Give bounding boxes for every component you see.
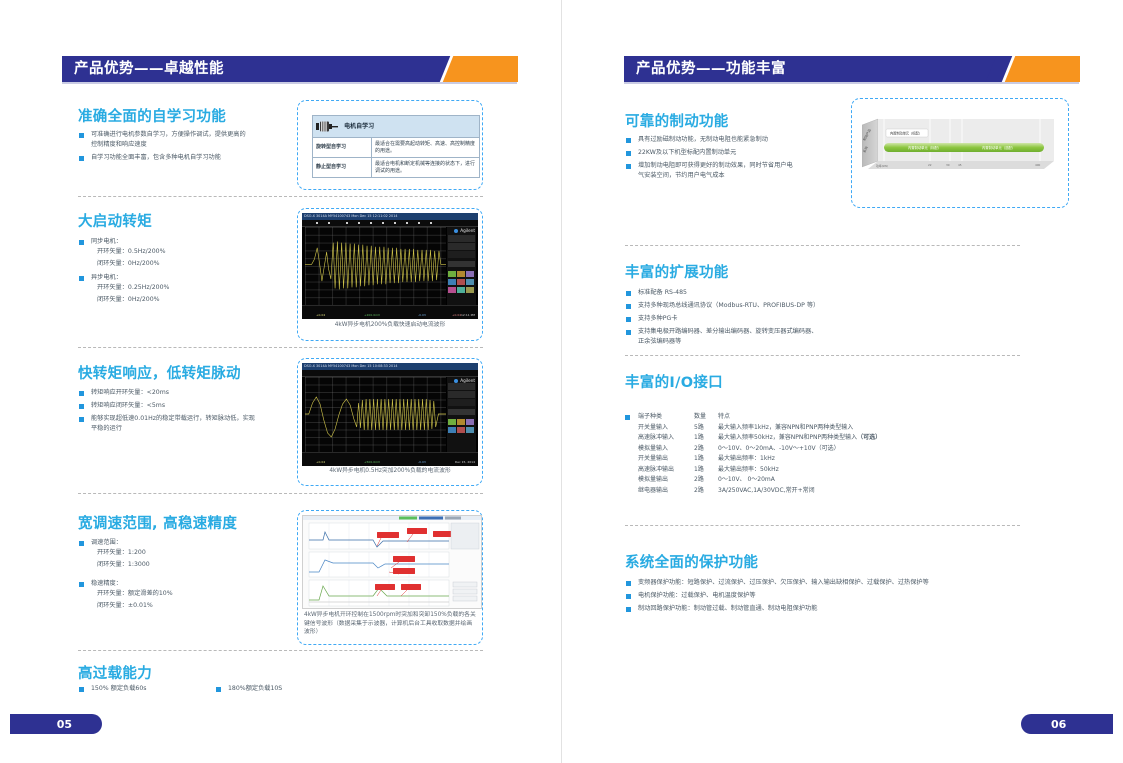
scope-chip: +0.04 (316, 460, 325, 464)
table-row: 继电器输出 2路 3A/250VAC,1A/30VDC,常开+常闭 (638, 486, 968, 497)
section-bullets-overload-2: 180%额定负载10S (215, 684, 355, 697)
dataplot-caption: 4kW异步电机开环控制在1500rpm时突加和突卸150%负载的各关键信号波形（… (304, 611, 476, 637)
section-title-start-torque: 大启动转矩 (78, 210, 152, 231)
io-cell-type: 模拟量输出 (638, 475, 694, 486)
sub-text: 开环矢量：0.25Hz/200% (78, 283, 278, 294)
oscilloscope-screenshot-2: DSO-X 3014A MY54100743 Mon Dec 15 10:08:… (302, 363, 478, 466)
io-table: 端子种类 数量 特点 开关量输入 5路 最大输入频率1kHz，兼容NPN和PNP… (638, 412, 968, 496)
bullet-text: 变频器保护功能：短路保护、过流保护、过压保护、欠压保护、输入输出缺相保护、过载保… (638, 579, 929, 586)
io-cell-qty: 2路 (694, 444, 718, 455)
right-page: 产品优势——功能丰富 可靠的制动功能 具有过励磁制动功能，无制动电阻也能紧急制动… (562, 0, 1123, 763)
list-item: 变频器保护功能：短路保护、过流保护、过压保护、欠压保护、输入输出缺相保护、过载保… (625, 578, 1045, 588)
dataplot-frame: 4kW异步电机开环控制在1500rpm时突加和突卸150%负载的各关键信号波形（… (297, 510, 483, 645)
list-item: 自学习功能全面丰富，包含多种电机自学习功能 (78, 153, 283, 163)
list-item: 转矩响应开环矢量：<20ms (78, 388, 283, 398)
table-row: 高速脉冲输出 1路 最大输出频率：50kHz (638, 465, 968, 476)
right-page-banner: 产品优势——功能丰富 (624, 56, 1079, 82)
list-item: 可准确进行电机参数自学习，方便操作调试，提供更高的 控制精度和响应速度 (78, 130, 283, 150)
list-item: 制动回路保护功能：制动管过载、制动管直通、制动电阻保护功能 (625, 604, 1045, 614)
bullet-text: 转矩响应开环矢量：<20ms (91, 389, 169, 396)
waveform-2 (305, 377, 446, 452)
io-cell-qty: 2路 (694, 486, 718, 497)
bullet-text: 支持多种现场总线通讯协议（Modbus-RTU、PROFIBUS-DP 等） (638, 302, 819, 309)
io-cell-type: 开关量输入 (638, 423, 694, 434)
motor-selflearning-frame: 电机自学习 旋转型自学习 最适合在需要高起动转矩、高速、高控制精度的用途。 静止… (297, 100, 483, 190)
io-cell-note: （可选） (857, 434, 881, 441)
braking-diagram: 制动产品 系列 内置制动单元（标配） 内置制动单元（标配） 内置制动单元（选配）… (862, 117, 1058, 179)
list-item: 增加制动电阻即可获得更好的制动效果，同时节省用户电 气安装空间，节约用户电气成本 (625, 161, 845, 181)
table-row: 模拟量输入 2路 0～10V、0～20mA、-10V～+10V（可选） (638, 444, 968, 455)
io-cell-type: 高速脉冲输入 (638, 433, 694, 444)
brake-tick-45: 45 (958, 163, 962, 167)
bullet-text-cont: 气安装空间，节约用户电气成本 (638, 171, 845, 181)
scope-chip: +0.04 (452, 313, 461, 317)
table-cell-value: 最适合在需要高起动转矩、高速、高控制精度的用途。 (372, 138, 480, 158)
sub-text: 闭环矢量：0Hz/200% (78, 295, 278, 306)
scope-bottombar: +0.04 +500.0mV -0.03 Dec 15, 2014 (302, 452, 478, 466)
scope-bottombar: +0.04 +200.0mV -0.03 +0.04 12:11 PM (302, 305, 478, 319)
io-cell-feature: 0～10V、0～20mA、-10V～+10V（可选） (718, 444, 968, 455)
bullet-text: 稳速精度： (91, 580, 122, 587)
scope-chip: +0.04 (316, 313, 325, 317)
divider (625, 355, 1020, 356)
io-header-feature: 特点 (718, 412, 968, 423)
io-cell-feature: 0～10V、 0～20mA (718, 475, 968, 486)
bullet-text: 22KW及以下机型标配内置制动单元 (638, 149, 736, 156)
section-bullets-braking: 具有过励磁制动功能，无制动电阻也能紧急制动 22KW及以下机型标配内置制动单元 … (625, 135, 845, 184)
list-item: 转矩响应闭环矢量：<5ms (78, 401, 283, 411)
scope-grid (305, 227, 446, 305)
scope-chip: -0.03 (418, 313, 426, 317)
section-title-expansion: 丰富的扩展功能 (625, 261, 729, 282)
list-item: 150% 额定负载60s (78, 684, 208, 694)
scope-menubar (302, 370, 478, 377)
section-bullets-self-learning: 可准确进行电机参数自学习，方便操作调试，提供更高的 控制精度和响应速度 自学习功… (78, 130, 283, 166)
section-bullets-speed-range: 调速范围： 开环矢量：1:200 闭环矢量：1:3000 稳速精度： 开环矢量：… (78, 538, 278, 612)
list-item: 调速范围： (78, 538, 278, 548)
page-number-left: 05 (10, 714, 102, 734)
list-item: 稳速精度： (78, 579, 278, 589)
list-item: 同步电机： (78, 237, 278, 247)
table-row: 旋转型自学习 最适合在需要高起动转矩、高速、高控制精度的用途。 (313, 138, 480, 158)
bullet-text-cont: 正余弦编码器等 (638, 337, 925, 347)
list-item: 电机保护功能：过载保护、电机温度保护等 (625, 591, 1045, 601)
section-title-io: 丰富的I/O接口 (625, 371, 723, 392)
bullet-text: 异步电机： (91, 274, 122, 281)
scope-chip: -0.03 (418, 460, 426, 464)
io-cell-feature: 最大输入频率1kHz，兼容NPN和PNP两种类型输入 (718, 423, 968, 434)
scope-timestamp: 12:11 PM (461, 313, 475, 317)
sub-text: 闭环矢量：1:3000 (78, 560, 278, 571)
brake-bar-green-left-label: 内置制动单元（标配） (908, 145, 941, 150)
sub-text: 闭环矢量：±0.01% (78, 601, 278, 612)
table-cell-value: 最适合电机和断定机械等连接的状态下，进行调试的用途。 (372, 158, 480, 178)
bullet-text: 标准配备 RS-485 (638, 289, 687, 296)
io-cell-feature: 最大输出频率：50kHz (718, 465, 968, 476)
brake-axis-label: 功率(kW) (876, 164, 888, 168)
list-item: 能够实现超低速0.01Hz的稳定带载运行，转矩脉动低，实现 平稳的运行 (78, 414, 283, 434)
brake-tick-30: 30 (946, 163, 950, 167)
table-cell-key: 静止型自学习 (313, 158, 372, 178)
bullet-text: 支持多种PG卡 (638, 315, 677, 322)
table-row: 开关量输出 1路 最大输出频率：1kHz (638, 454, 968, 465)
bullet-text: 具有过励磁制动功能，无制动电阻也能紧急制动 (638, 136, 768, 143)
section-title-self-learning: 准确全面的自学习功能 (78, 105, 226, 126)
bullet-text: 制动回路保护功能：制动管过载、制动管直通、制动电阻保护功能 (638, 605, 817, 612)
motor-icon (316, 121, 338, 132)
scope-titlebar: DSO-X 3014A MY54100743 Mon Dec 15 10:08:… (302, 363, 478, 370)
io-cell-feature: 最大输出频率：1kHz (718, 454, 968, 465)
section-title-torque-response: 快转矩响应，低转矩脉动 (78, 362, 241, 383)
agilent-logo: Agilent (454, 378, 475, 383)
scope-titlebar: DSO-X 3014A MY54100743 Mon Dec 15 12:11:… (302, 213, 478, 220)
brake-bar-top-label: 内置制动单元（标配） (890, 131, 922, 136)
io-table-header-row: 端子种类 数量 特点 (638, 412, 968, 423)
scope2-caption: 4kW异步电机0.5Hz突加200%负载的电流波形 (298, 467, 482, 476)
agilent-logo: Agilent (454, 228, 475, 233)
brake-bar-green-right-label: 内置制动单元（选配） (982, 145, 1015, 150)
bullet-text: 同步电机： (91, 238, 122, 245)
bullet-text: 电机保护功能：过载保护、电机温度保护等 (638, 592, 756, 599)
section-title-protection: 系统全面的保护功能 (625, 551, 758, 572)
left-page-banner: 产品优势——卓越性能 (62, 56, 517, 82)
io-cell-type: 继电器输出 (638, 486, 694, 497)
brake-tick-400: 400 (1035, 163, 1041, 167)
bullet-square (625, 415, 630, 420)
io-header-type: 端子种类 (638, 412, 694, 423)
divider (625, 525, 1020, 526)
bullet-text: 自学习功能全面丰富，包含多种电机自学习功能 (91, 154, 221, 161)
braking-diagram-frame: 制动产品 系列 内置制动单元（标配） 内置制动单元（标配） 内置制动单元（选配）… (851, 98, 1069, 208)
io-cell-qty: 1路 (694, 465, 718, 476)
table-row: 模拟量输出 2路 0～10V、 0～20mA (638, 475, 968, 486)
scope1-caption: 4kW异步电机200%负载快速启动电流波形 (298, 321, 482, 330)
section-bullets-torque-response: 转矩响应开环矢量：<20ms 转矩响应闭环矢量：<5ms 能够实现超低速0.01… (78, 388, 283, 437)
list-item: 支持集电极开路编码器、差分输出编码器、旋转变压器式编码器、 正余弦编码器等 (625, 327, 925, 347)
multi-panel-chart (303, 516, 481, 608)
bullet-text: 180%额定负载10S (228, 685, 282, 692)
motor-selflearning-table: 电机自学习 旋转型自学习 最适合在需要高起动转矩、高速、高控制精度的用途。 静止… (312, 115, 480, 178)
list-item: 支持多种现场总线通讯协议（Modbus-RTU、PROFIBUS-DP 等） (625, 301, 925, 311)
scope-sidepanel (447, 227, 476, 305)
bullet-text: 增加制动电阻即可获得更好的制动效果，同时节省用户电 (638, 162, 793, 169)
banner-underline (62, 82, 517, 84)
table-row: 高速脉冲输入 1路 最大输入频率50kHz，兼容NPN和PNP两种类型输入（可选… (638, 433, 968, 444)
table-row: 开关量输入 5路 最大输入频率1kHz，兼容NPN和PNP两种类型输入 (638, 423, 968, 434)
sub-text: 开环矢量：0.5Hz/200% (78, 247, 278, 258)
section-bullets-start-torque: 同步电机： 开环矢量：0.5Hz/200% 闭环矢量：0Hz/200% 异步电机… (78, 237, 278, 306)
sub-text: 闭环矢量：0Hz/200% (78, 259, 278, 270)
io-cell-qty: 5路 (694, 423, 718, 434)
divider (78, 650, 483, 651)
table-cell-key: 旋转型自学习 (313, 138, 372, 158)
io-cell-type: 开关量输出 (638, 454, 694, 465)
io-cell-qty: 1路 (694, 433, 718, 444)
section-title-overload: 高过载能力 (78, 662, 152, 683)
io-cell-type: 模拟量输入 (638, 444, 694, 455)
sub-text: 开环矢量：1:200 (78, 548, 278, 559)
io-header-qty: 数量 (694, 412, 718, 423)
divider (625, 245, 1020, 246)
data-plot-image (302, 515, 482, 609)
divider (78, 347, 483, 348)
bullet-text-cont: 控制精度和响应速度 (91, 140, 283, 150)
left-banner-title: 产品优势——卓越性能 (74, 60, 224, 78)
io-cell-type: 高速脉冲输出 (638, 465, 694, 476)
scope-title-text: DSO-X 3014A MY54100743 Mon Dec 15 10:08:… (302, 363, 478, 370)
left-page: 产品优势——卓越性能 准确全面的自学习功能 可准确进行电机参数自学习，方便操作调… (0, 0, 562, 763)
list-item: 支持多种PG卡 (625, 314, 925, 324)
io-cell-qty: 1路 (694, 454, 718, 465)
bullet-text: 能够实现超低速0.01Hz的稳定带载运行，转矩脉动低，实现 (91, 415, 255, 422)
io-cell-feature: 3A/250VAC,1A/30VDC,常开+常闭 (718, 486, 968, 497)
table-header-cell: 电机自学习 (313, 116, 480, 138)
bullet-text-cont: 平稳的运行 (91, 424, 283, 434)
section-bullets-expansion: 标准配备 RS-485 支持多种现场总线通讯协议（Modbus-RTU、PROF… (625, 288, 925, 350)
sub-text: 开环矢量：额定滑差的10% (78, 589, 278, 600)
braking-chart: 制动产品 系列 内置制动单元（标配） 内置制动单元（标配） 内置制动单元（选配）… (862, 117, 1058, 179)
banner-underline (624, 82, 1079, 84)
oscilloscope-screenshot-1: DSO-X 3014A MY54100743 Mon Dec 15 12:11:… (302, 213, 478, 319)
io-cell-feature-text: 最大输入频率50kHz，兼容NPN和PNP两种类型输入 (718, 434, 857, 441)
list-item: 标准配备 RS-485 (625, 288, 925, 298)
divider (78, 196, 483, 197)
list-item: 180%额定负载10S (215, 684, 355, 694)
scope1-frame: DSO-X 3014A MY54100743 Mon Dec 15 12:11:… (297, 208, 483, 341)
list-item: 22KW及以下机型标配内置制动单元 (625, 148, 845, 158)
scope-chip: +500.0mV (364, 460, 380, 464)
scope-sidepanel (447, 377, 476, 452)
brochure-spread: 产品优势——卓越性能 准确全面的自学习功能 可准确进行电机参数自学习，方便操作调… (0, 0, 1123, 763)
section-bullets-protection: 变频器保护功能：短路保护、过流保护、过压保护、欠压保护、输入输出缺相保护、过载保… (625, 578, 1045, 617)
brake-tick-22: 22 (928, 163, 932, 167)
bullet-text: 调速范围： (91, 539, 122, 546)
list-item: 具有过励磁制动功能，无制动电阻也能紧急制动 (625, 135, 845, 145)
io-cell-qty: 2路 (694, 475, 718, 486)
table-row: 静止型自学习 最适合电机和断定机械等连接的状态下，进行调试的用途。 (313, 158, 480, 178)
waveform-1 (305, 227, 446, 305)
io-cell-feature: 最大输入频率50kHz，兼容NPN和PNP两种类型输入（可选） (718, 433, 968, 444)
divider (78, 493, 483, 494)
list-item: 异步电机： (78, 273, 278, 283)
scope2-frame: DSO-X 3014A MY54100743 Mon Dec 15 10:08:… (297, 358, 483, 486)
scope-menubar (302, 220, 478, 227)
bullet-text: 支持集电极开路编码器、差分输出编码器、旋转变压器式编码器、 (638, 328, 817, 335)
table-header-row: 电机自学习 (313, 116, 480, 138)
section-title-braking: 可靠的制动功能 (625, 110, 729, 131)
motor-table-title: 电机自学习 (344, 123, 374, 130)
right-banner-title: 产品优势——功能丰富 (636, 60, 786, 78)
scope-timestamp: Dec 15, 2014 (455, 460, 475, 464)
bullet-text: 150% 额定负载60s (91, 685, 147, 692)
scope-grid (305, 377, 446, 452)
section-bullets-overload-1: 150% 额定负载60s (78, 684, 208, 697)
bullet-text: 转矩响应闭环矢量：<5ms (91, 402, 165, 409)
bullet-text: 可准确进行电机参数自学习，方便操作调试，提供更高的 (91, 131, 246, 138)
section-title-speed-range: 宽调速范围, 高稳速精度 (78, 512, 237, 533)
scope-chip: +200.0mV (364, 313, 380, 317)
page-number-right: 06 (1021, 714, 1113, 734)
scope-title-text: DSO-X 3014A MY54100743 Mon Dec 15 12:11:… (302, 213, 478, 220)
